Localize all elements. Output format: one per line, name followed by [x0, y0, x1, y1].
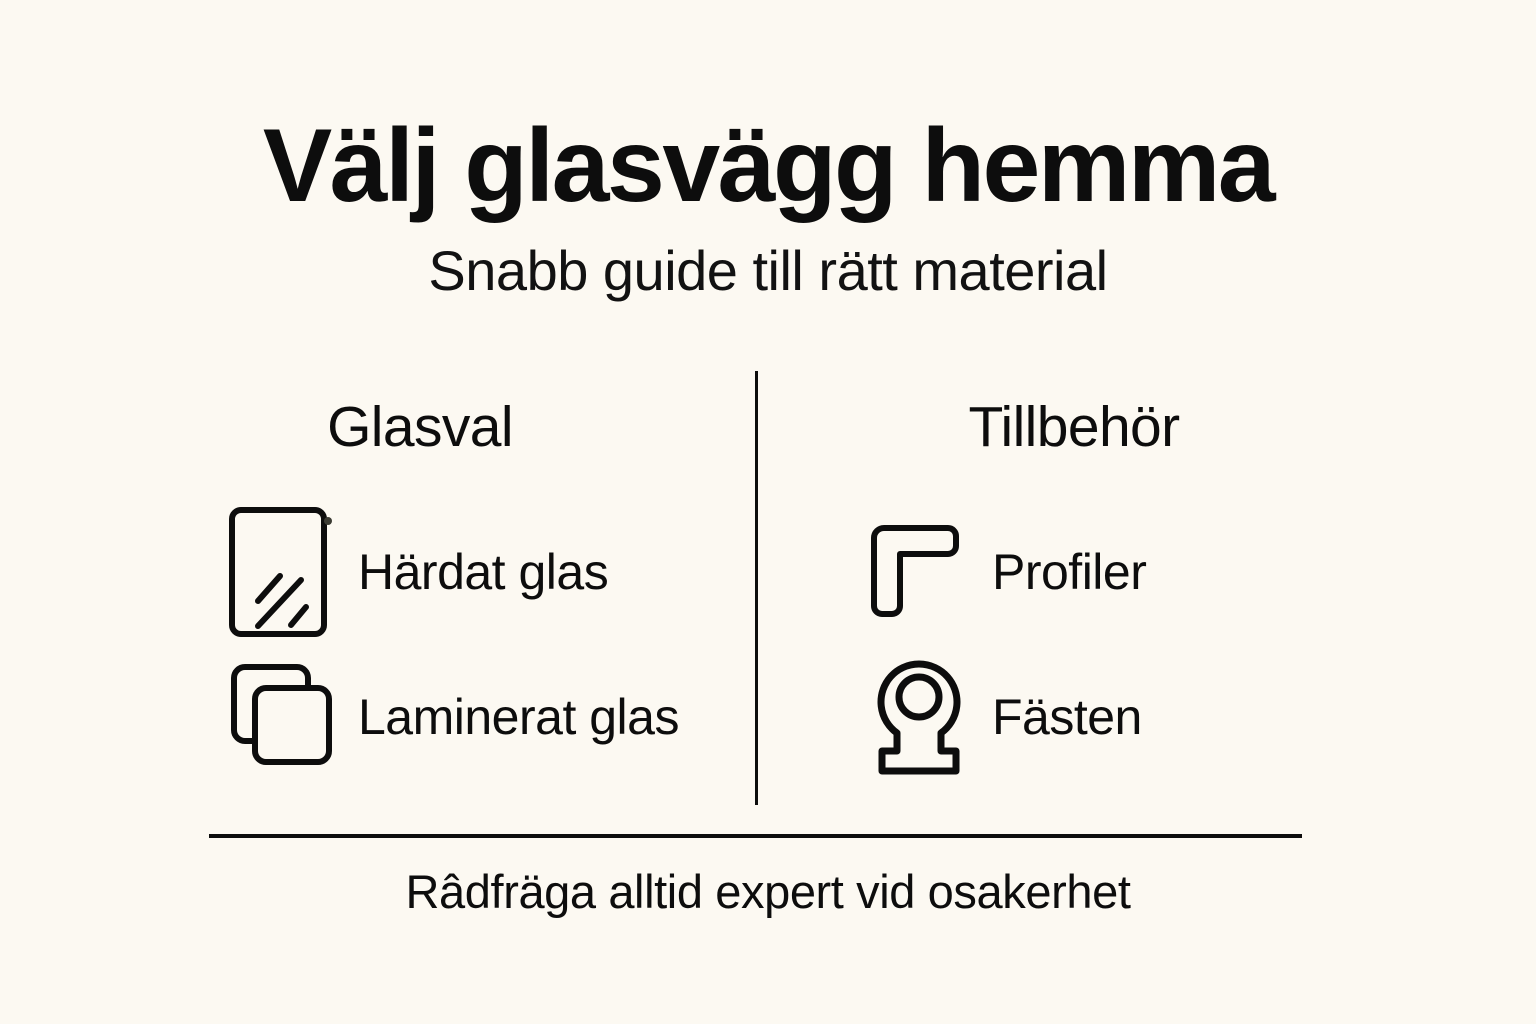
footer-note: Râdfräga alltid expert vid osakerhet: [0, 864, 1536, 919]
columns-section: Glasval Härdat glas: [150, 371, 1390, 805]
list-item-label: Profiler: [992, 547, 1146, 597]
layered-panes-icon: [228, 652, 336, 782]
mount-bracket-icon: [866, 652, 974, 782]
column-heading-glasval: Glasval: [150, 396, 740, 459]
column-glasval: Glasval Härdat glas: [150, 371, 740, 805]
column-tillbehor: Tillbehör Profiler: [770, 371, 1360, 805]
list-item-label: Härdat glas: [358, 547, 608, 597]
page-subtitle: Snabb guide till rätt material: [0, 238, 1536, 304]
list-item-fasten[interactable]: Fästen: [866, 644, 1456, 789]
tillbehor-item-list: Profiler Fästen: [770, 499, 1456, 789]
angle-profile-icon: [866, 507, 974, 637]
footer-divider: [209, 834, 1302, 838]
page-title: Välj glasvägg hemma: [0, 108, 1536, 224]
glass-pane-icon: [228, 507, 336, 637]
list-item-label: Fästen: [992, 692, 1142, 742]
glasval-item-list: Härdat glas Laminerat glas: [150, 499, 818, 789]
list-item-hardat-glas[interactable]: Härdat glas: [228, 499, 818, 644]
header-block: Välj glasvägg hemma Snabb guide till rät…: [0, 108, 1536, 305]
list-item-laminerat-glas[interactable]: Laminerat glas: [228, 644, 818, 789]
poster-canvas: Välj glasvägg hemma Snabb guide till rät…: [0, 0, 1536, 1024]
list-item-profiler[interactable]: Profiler: [866, 499, 1456, 644]
column-heading-tillbehor: Tillbehör: [770, 396, 1360, 459]
list-item-label: Laminerat glas: [358, 692, 679, 742]
